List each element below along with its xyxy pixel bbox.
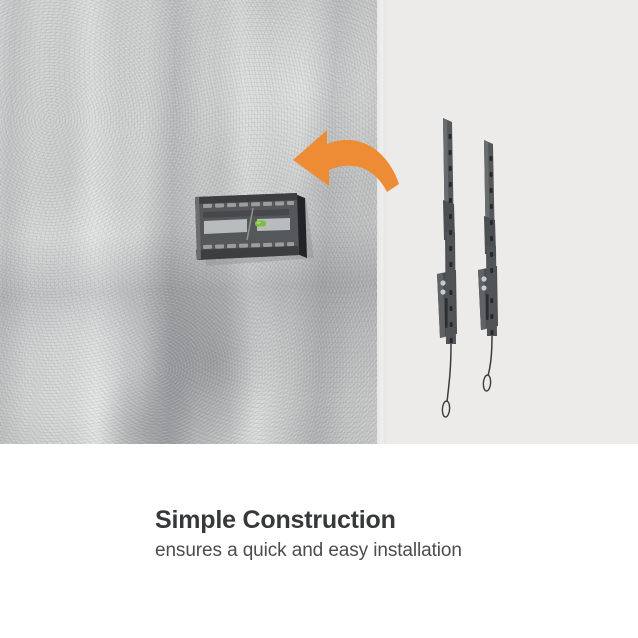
plate-cutout-left	[204, 219, 247, 234]
subheadline: ensures a quick and easy installation	[155, 540, 462, 562]
product-feature-image: Simple Construction ensures a quick and …	[0, 0, 638, 638]
wall-edge-bevel	[377, 0, 386, 444]
arm-left-boss-lower	[440, 289, 445, 294]
bubble-level-icon	[255, 221, 266, 227]
arm-right-slot	[486, 294, 489, 320]
arm-left-slot	[445, 298, 448, 328]
arm-left-release-cord	[447, 344, 451, 402]
arm-right-boss-lower	[481, 285, 486, 290]
tv-wall-mount-plate	[191, 188, 315, 270]
tv-bracket-arm-left	[437, 118, 457, 417]
scene-photo	[0, 0, 638, 444]
tv-bracket-arm-right	[478, 140, 498, 391]
tv-bracket-arms-group	[424, 112, 528, 424]
arm-right-shaft	[486, 246, 497, 336]
caption-block: Simple Construction ensures a quick and …	[0, 444, 638, 638]
arm-left-boss-upper	[440, 280, 445, 285]
bubble-level-highlight	[257, 222, 261, 224]
headline: Simple Construction	[155, 506, 396, 535]
arm-right-release-cord	[488, 336, 492, 376]
arm-left-cord-loop	[442, 401, 450, 417]
arm-right-cord-loop	[483, 375, 491, 391]
arm-right-boss-upper	[481, 276, 486, 281]
